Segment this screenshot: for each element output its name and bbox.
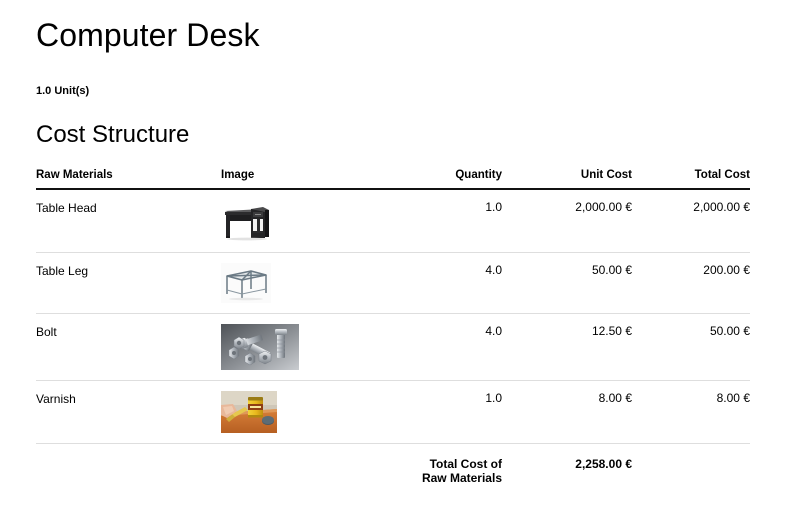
- table-leg-frame-photo-icon: [221, 263, 271, 303]
- cell-total-cost: 2,000.00 €: [632, 189, 750, 253]
- cell-material-name: Table Head: [36, 189, 221, 253]
- cell-total-cost: 8.00 €: [632, 381, 750, 444]
- cell-quantity: 4.0: [406, 314, 502, 381]
- total-row-spacer-1: [36, 444, 221, 496]
- cell-quantity: 4.0: [406, 253, 502, 314]
- cell-unit-cost: 8.00 €: [502, 381, 632, 444]
- cell-total-cost: 200.00 €: [632, 253, 750, 314]
- column-header-unit-cost: Unit Cost: [502, 169, 632, 189]
- table-head-desk-photo-icon: [221, 200, 273, 242]
- cell-material-image: [221, 314, 406, 381]
- total-cost-label: Total Cost of Raw Materials: [406, 444, 502, 496]
- unit-quantity-label: 1.0 Unit(s): [36, 53, 750, 97]
- total-row-spacer-2: [221, 444, 406, 496]
- cell-unit-cost: 2,000.00 €: [502, 189, 632, 253]
- varnish-can-photo-icon: [221, 391, 277, 433]
- cell-quantity: 1.0: [406, 189, 502, 253]
- column-header-quantity: Quantity: [406, 169, 502, 189]
- table-total-row: Total Cost of Raw Materials 2,258.00 €: [36, 444, 750, 496]
- bolt-hardware-photo-icon: [221, 324, 299, 370]
- table-header-row: Raw Materials Image Quantity Unit Cost T…: [36, 169, 750, 189]
- cost-structure-table: Raw Materials Image Quantity Unit Cost T…: [36, 169, 750, 495]
- column-header-raw-materials: Raw Materials: [36, 169, 221, 189]
- cell-material-name: Varnish: [36, 381, 221, 444]
- table-row: Bolt: [36, 314, 750, 381]
- cell-material-image: [221, 189, 406, 253]
- column-header-image: Image: [221, 169, 406, 189]
- table-row: Table Head: [36, 189, 750, 253]
- cell-material-image: [221, 381, 406, 444]
- cell-total-cost: 50.00 €: [632, 314, 750, 381]
- report-page: Computer Desk 1.0 Unit(s) Cost Structure…: [0, 0, 786, 525]
- table-row: Table Leg: [36, 253, 750, 314]
- section-title-cost-structure: Cost Structure: [36, 97, 750, 149]
- total-cost-value: 2,258.00 €: [502, 444, 632, 496]
- cell-material-name: Table Leg: [36, 253, 221, 314]
- column-header-total-cost: Total Cost: [632, 169, 750, 189]
- total-row-spacer-3: [632, 444, 750, 496]
- table-row: Varnish: [36, 381, 750, 444]
- cell-quantity: 1.0: [406, 381, 502, 444]
- cell-unit-cost: 12.50 €: [502, 314, 632, 381]
- cell-unit-cost: 50.00 €: [502, 253, 632, 314]
- cell-material-name: Bolt: [36, 314, 221, 381]
- page-title: Computer Desk: [36, 0, 750, 53]
- cell-material-image: [221, 253, 406, 314]
